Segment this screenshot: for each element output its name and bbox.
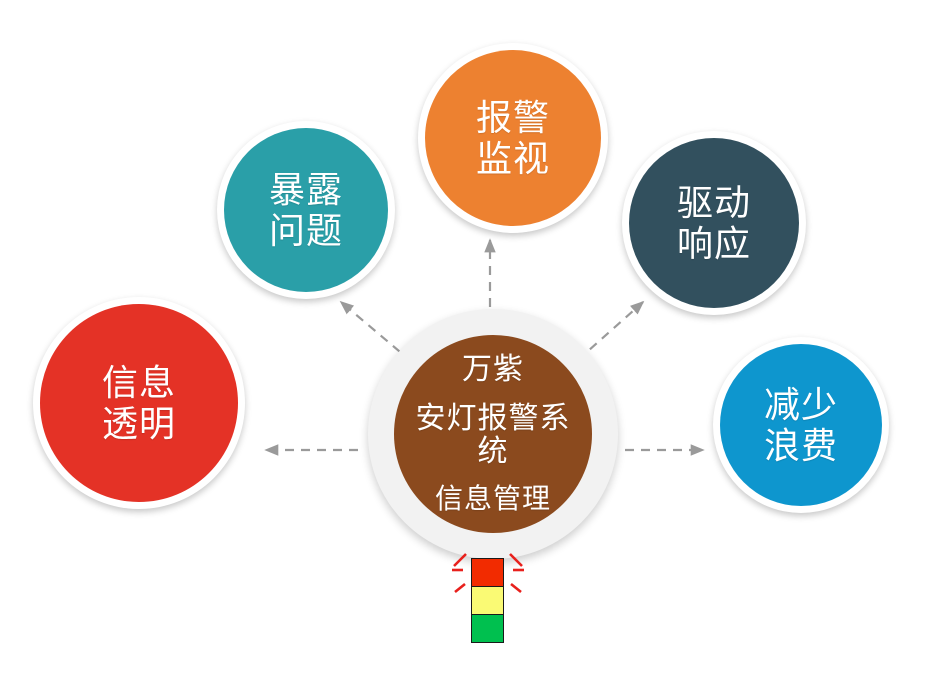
node-exposure-disc: 暴露 问题 — [224, 128, 388, 292]
node-waste-label: 减少 浪费 — [764, 384, 838, 466]
andon-light-icon — [452, 548, 524, 644]
connector-response — [578, 302, 643, 360]
node-waste-disc: 减少 浪费 — [720, 344, 882, 506]
node-transparency[interactable]: 信息 透明 — [33, 297, 245, 509]
node-transparency-disc: 信息 透明 — [40, 304, 238, 502]
node-center[interactable]: 万紫 安灯报警系统 信息管理 — [368, 309, 618, 559]
node-waste[interactable]: 减少 浪费 — [713, 337, 889, 513]
andon-green-lamp — [471, 615, 504, 643]
node-monitor-label: 报警 监视 — [476, 97, 550, 179]
node-exposure-label: 暴露 问题 — [269, 169, 343, 251]
node-response-label: 驱动 响应 — [677, 182, 751, 264]
node-response[interactable]: 驱动 响应 — [622, 131, 806, 315]
node-transparency-label: 信息 透明 — [102, 362, 176, 444]
andon-red-lamp — [471, 558, 504, 587]
node-monitor-disc: 报警 监视 — [425, 50, 601, 226]
node-center-line2: 安灯报警系统 — [404, 402, 582, 468]
andon-lamp-stack — [471, 558, 504, 643]
diagram-canvas: 信息 透明 暴露 问题 报警 监视 驱动 响应 减少 浪费 万紫 安灯报警系统 … — [0, 0, 939, 680]
node-monitor[interactable]: 报警 监视 — [418, 43, 608, 233]
node-center-disc: 万紫 安灯报警系统 信息管理 — [394, 335, 592, 533]
andon-yellow-lamp — [471, 587, 504, 615]
node-exposure[interactable]: 暴露 问题 — [217, 121, 395, 299]
node-center-line3: 信息管理 — [435, 484, 551, 515]
node-center-line1: 万紫 — [462, 353, 524, 386]
node-response-disc: 驱动 响应 — [629, 138, 799, 308]
